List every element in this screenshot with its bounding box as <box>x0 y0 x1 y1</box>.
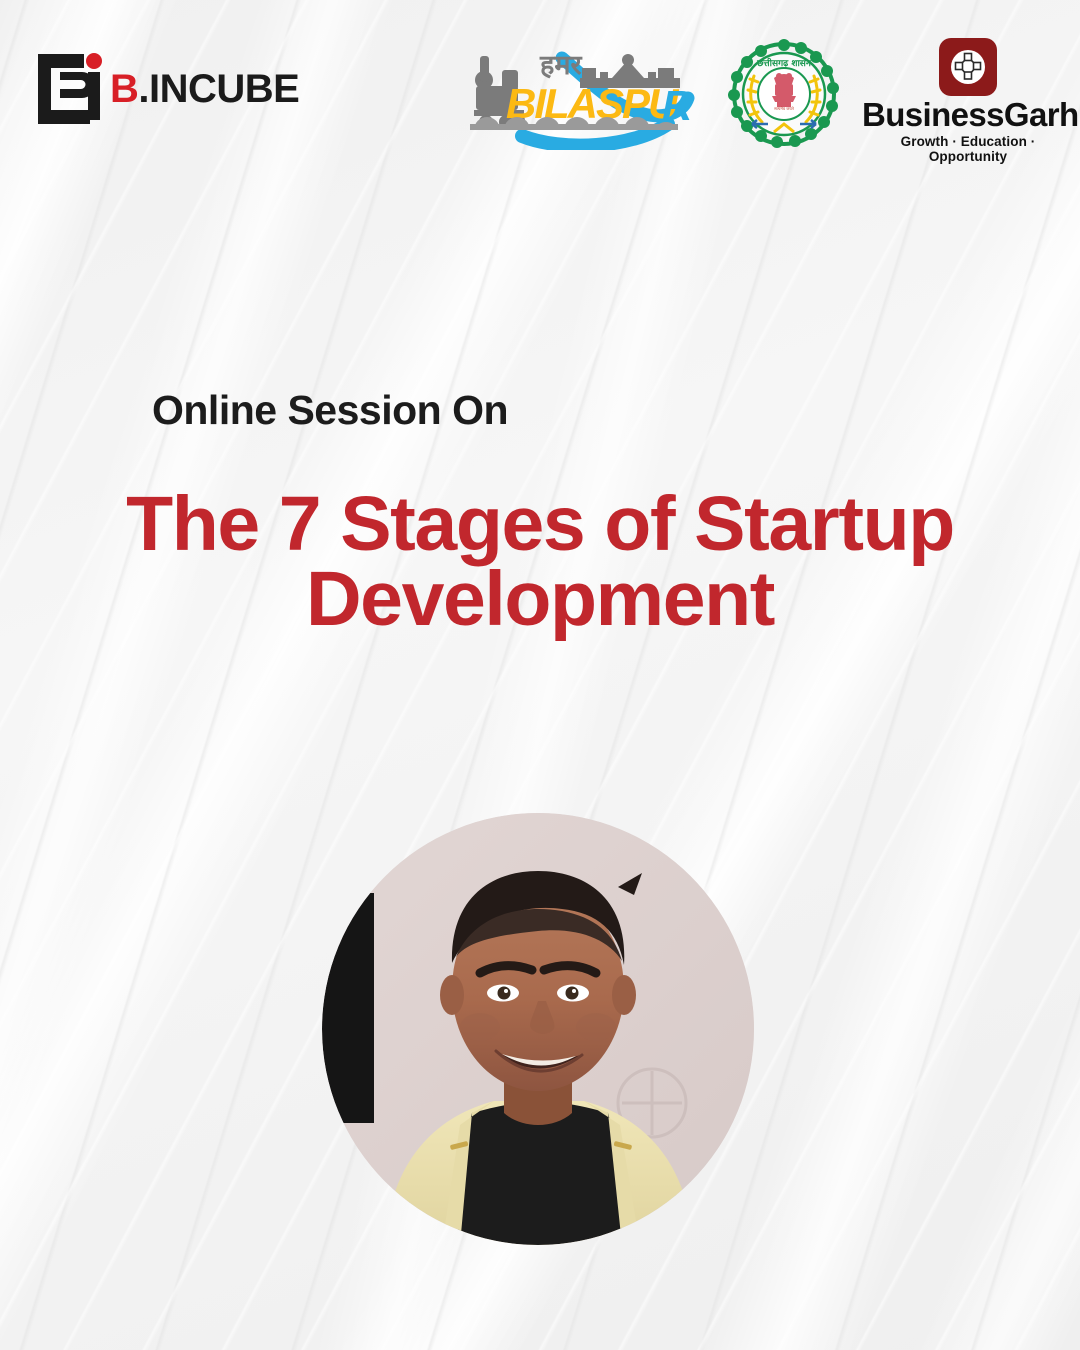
page-title-line2: Development <box>306 556 774 642</box>
speaker-photo <box>322 813 754 1245</box>
svg-text:हमर: हमर <box>539 50 582 81</box>
logo-bincube: B.INCUBE <box>36 50 299 128</box>
page-title: The 7 Stages of Startup Development <box>0 487 1080 636</box>
businessgarh-tagline: Growth · Education · Opportunity <box>862 134 1074 164</box>
svg-text:छत्तीसगढ़ शासन: छत्तीसगढ़ शासन <box>756 57 812 69</box>
logo-chhattisgarh-government-emblem: सत्यमेव जयते छत्तीसगढ़ शासन <box>728 38 840 150</box>
svg-text:R: R <box>662 82 693 129</box>
svg-text:BILASPU: BILASPU <box>506 80 680 127</box>
header-logo-bar: B.INCUBE <box>0 0 1080 175</box>
session-kicker: Online Session On <box>152 387 1080 434</box>
logo-businessgarh: BusinessGarh Growth · Education · Opport… <box>862 38 1074 164</box>
logo-hamar-bilaspur: हमर BILASPU R <box>462 40 702 150</box>
bincube-wordmark: B.INCUBE <box>110 69 299 109</box>
businessgarh-title: BusinessGarh <box>862 98 1074 133</box>
poster-root: B.INCUBE <box>0 0 1080 1350</box>
bincube-wordmark-rest: .INCUBE <box>138 67 299 111</box>
svg-text:सत्यमेव जयते: सत्यमेव जयते <box>774 106 794 111</box>
bincube-mark-icon <box>36 50 108 128</box>
page-title-line1: The 7 Stages of Startup <box>126 481 954 567</box>
businessgarh-network-icon <box>939 38 997 96</box>
bincube-wordmark-b: B <box>110 67 138 111</box>
